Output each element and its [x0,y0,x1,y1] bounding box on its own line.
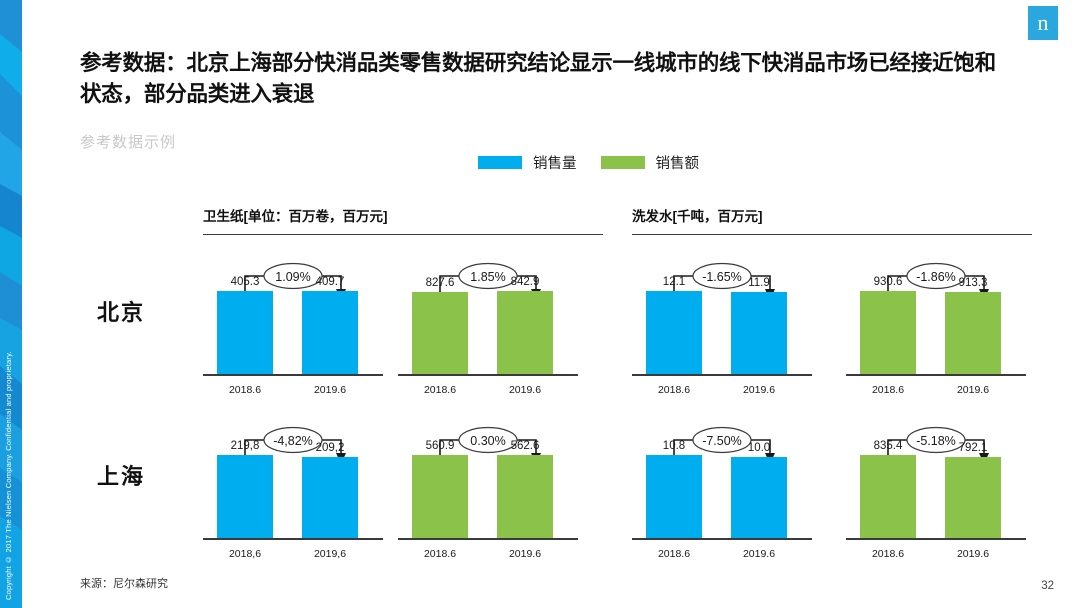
value-label-beijing-shampoo-volume-2018.6: 12.1 [639,276,709,288]
row-label-beijing: 北京 [97,295,145,327]
bar-shanghai-shampoo-value-2019.6 [945,457,1001,538]
bar-chart-beijing-shampoo-volume: -1.65%12.111.92018.62019.6 [632,258,812,398]
legend-label-volume: 销售量 [533,152,577,173]
x-axis-line [846,374,1026,376]
x-axis-labels-shanghai-shampoo-volume: 2018.62019.6 [632,542,812,562]
x-tick-shanghai-tissue-value-0: 2018.6 [405,548,475,560]
legend-swatch-volume [478,156,522,169]
copyright-notice: Copyright © 2017 The Nielsen Company. Co… [0,300,20,600]
plot-area-beijing-tissue-volume: 405.3409.7 [203,286,383,376]
x-axis-labels-beijing-shampoo-value: 2018.62019.6 [846,378,1026,398]
x-axis-labels-beijing-tissue-value: 2018.62019.6 [398,378,578,398]
value-label-shanghai-tissue-volume-2019,6: 209,2 [295,442,365,454]
bar-shanghai-tissue-volume-2019,6 [302,457,358,538]
row-label-shanghai: 上海 [97,459,145,491]
bar-chart-beijing-tissue-value: 1.85%827.6842.92018.62019.6 [398,258,578,398]
bar-chart-beijing-tissue-volume: 1.09%405.3409.72018.62019.6 [203,258,383,398]
plot-area-shanghai-shampoo-value: 835.4792.1 [846,450,1026,540]
slide-canvas: Copyright © 2017 The Nielsen Company. Co… [0,0,1080,608]
x-axis-line [398,538,578,540]
x-tick-beijing-tissue-value-1: 2019.6 [490,384,560,396]
value-label-shanghai-tissue-value-2018.6: 560.9 [405,440,475,452]
bar-shanghai-shampoo-volume-2019.6 [731,457,787,538]
x-tick-beijing-shampoo-value-1: 2019.6 [938,384,1008,396]
x-tick-beijing-shampoo-value-0: 2018.6 [853,384,923,396]
page-title: 参考数据：北京上海部分快消品类零售数据研究结论显示一线城市的线下快消品市场已经接… [80,48,1010,109]
x-axis-line [632,374,812,376]
x-tick-shanghai-tissue-volume-0: 2018,6 [210,548,280,560]
x-tick-shanghai-tissue-value-1: 2019.6 [490,548,560,560]
x-axis-line [203,538,383,540]
value-label-shanghai-shampoo-volume-2018.6: 10.8 [639,440,709,452]
x-axis-line [398,374,578,376]
page-number: 32 [1041,580,1054,592]
x-axis-labels-shanghai-tissue-value: 2018.62019.6 [398,542,578,562]
x-tick-beijing-shampoo-volume-0: 2018.6 [639,384,709,396]
x-axis-labels-shanghai-tissue-volume: 2018,62019,6 [203,542,383,562]
legend-label-value: 销售额 [656,152,700,173]
bar-beijing-shampoo-volume-2018.6 [646,291,702,374]
x-tick-beijing-tissue-value-0: 2018.6 [405,384,475,396]
nielsen-logo: n [1028,6,1058,40]
bar-beijing-tissue-value-2018.6 [412,292,468,374]
plot-area-shanghai-shampoo-volume: 10.810.0 [632,450,812,540]
plot-area-beijing-tissue-value: 827.6842.9 [398,286,578,376]
x-tick-shanghai-shampoo-value-1: 2019.6 [938,548,1008,560]
bar-chart-shanghai-tissue-volume: -4,82%219,8209,22018,62019,6 [203,422,383,562]
value-label-shanghai-shampoo-value-2019.6: 792.1 [938,442,1008,454]
bar-beijing-tissue-volume-2018.6 [217,291,273,374]
plot-area-beijing-shampoo-volume: 12.111.9 [632,286,812,376]
x-axis-line [203,374,383,376]
value-label-beijing-tissue-volume-2019.6: 409.7 [295,276,365,288]
plot-area-shanghai-tissue-value: 560.9562.6 [398,450,578,540]
page-subtitle: 参考数据示例 [80,131,176,152]
legend-swatch-value [601,156,645,169]
value-label-beijing-shampoo-volume-2019.6: 11.9 [724,277,794,289]
bar-beijing-shampoo-value-2019.6 [945,292,1001,374]
chart-legend: 销售量 销售额 [478,152,699,173]
value-label-beijing-tissue-value-2019.6: 842.9 [490,276,560,288]
bar-chart-shanghai-tissue-value: 0.30%560.9562.62018.62019.6 [398,422,578,562]
bar-shanghai-shampoo-value-2018.6 [860,455,916,538]
value-label-beijing-tissue-value-2018.6: 827.6 [405,277,475,289]
legend-item-value: 销售额 [601,152,700,173]
left-decorative-band: Copyright © 2017 The Nielsen Company. Co… [0,0,22,608]
value-label-shanghai-tissue-value-2019.6: 562.6 [490,440,560,452]
x-axis-line [632,538,812,540]
bar-shanghai-tissue-value-2019.6 [497,455,553,538]
x-tick-shanghai-shampoo-value-0: 2018.6 [853,548,923,560]
section-header-tissue: 卫生纸[单位：百万卷，百万元] [203,205,603,235]
value-label-shanghai-shampoo-volume-2019.6: 10.0 [724,442,794,454]
value-label-beijing-shampoo-value-2019.6: 913.3 [938,277,1008,289]
legend-item-volume: 销售量 [478,152,577,173]
bar-beijing-tissue-volume-2019.6 [302,291,358,374]
bar-chart-beijing-shampoo-value: -1.86%930.6913.32018.62019.6 [846,258,1026,398]
bar-chart-shanghai-shampoo-value: -5.18%835.4792.12018.62019.6 [846,422,1026,562]
bar-shanghai-tissue-volume-2018,6 [217,455,273,538]
bar-beijing-shampoo-value-2018.6 [860,291,916,374]
plot-area-shanghai-tissue-volume: 219,8209,2 [203,450,383,540]
nielsen-logo-letter: n [1038,12,1049,34]
x-tick-beijing-tissue-volume-1: 2019.6 [295,384,365,396]
bar-beijing-tissue-value-2019.6 [497,291,553,374]
plot-area-beijing-shampoo-value: 930.6913.3 [846,286,1026,376]
x-tick-shanghai-shampoo-volume-0: 2018.6 [639,548,709,560]
x-tick-shanghai-shampoo-volume-1: 2019.6 [724,548,794,560]
value-label-shanghai-tissue-volume-2018,6: 219,8 [210,440,280,452]
bar-chart-shanghai-shampoo-volume: -7.50%10.810.02018.62019.6 [632,422,812,562]
x-axis-labels-beijing-shampoo-volume: 2018.62019.6 [632,378,812,398]
section-header-shampoo: 洗发水[千吨，百万元] [632,205,1032,235]
source-note: 来源：尼尔森研究 [80,575,168,591]
value-label-beijing-shampoo-value-2018.6: 930.6 [853,276,923,288]
x-tick-shanghai-tissue-volume-1: 2019,6 [295,548,365,560]
x-axis-labels-beijing-tissue-volume: 2018.62019.6 [203,378,383,398]
bar-beijing-shampoo-volume-2019.6 [731,292,787,374]
x-axis-labels-shanghai-shampoo-value: 2018.62019.6 [846,542,1026,562]
bar-shanghai-shampoo-volume-2018.6 [646,455,702,538]
x-tick-beijing-shampoo-volume-1: 2019.6 [724,384,794,396]
value-label-shanghai-shampoo-value-2018.6: 835.4 [853,440,923,452]
x-axis-line [846,538,1026,540]
x-tick-beijing-tissue-volume-0: 2018.6 [210,384,280,396]
bar-shanghai-tissue-value-2018.6 [412,455,468,538]
value-label-beijing-tissue-volume-2018.6: 405.3 [210,276,280,288]
